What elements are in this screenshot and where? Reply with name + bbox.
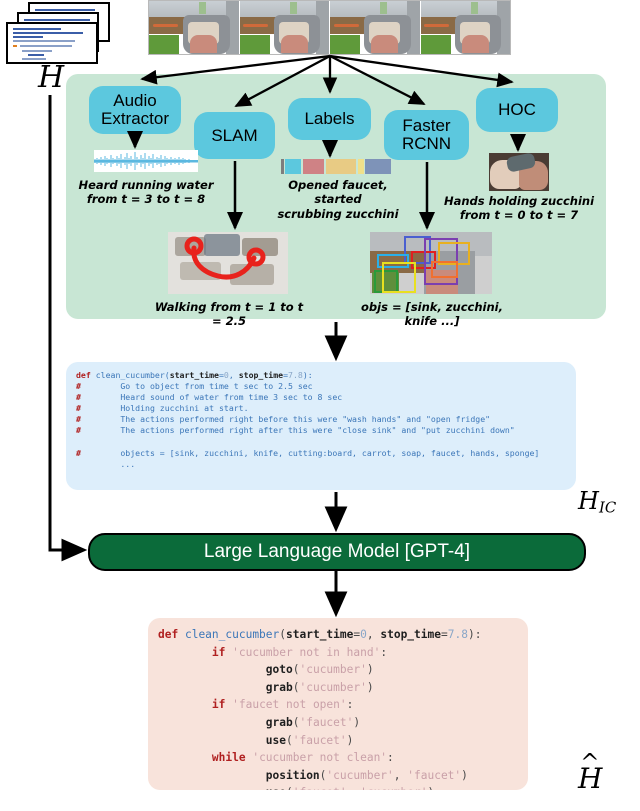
module-label-line1: Audio xyxy=(113,91,156,110)
slam-trajectory-map xyxy=(168,232,288,294)
module-label: HOC xyxy=(498,101,536,119)
detection-box xyxy=(382,262,416,293)
video-frame xyxy=(240,1,331,54)
in-context-prompt-code: def clean_cucumber(start_time=0, stop_ti… xyxy=(66,362,576,490)
module-label-line2: RCNN xyxy=(402,134,451,153)
history-label-H: H xyxy=(38,60,64,95)
label-bar-segment xyxy=(326,159,357,174)
video-frame xyxy=(330,1,421,54)
caption-hoc: Hands holding zucchini from t = 0 to t =… xyxy=(443,194,595,223)
llm-label: Large Language Model [GPT-4] xyxy=(204,541,470,563)
slam-path-overlay xyxy=(168,232,288,294)
module-labels[interactable]: Labels xyxy=(288,98,371,140)
document-sheet-front xyxy=(6,22,98,64)
video-frame xyxy=(421,1,511,54)
module-slam[interactable]: SLAM xyxy=(194,112,275,159)
module-label-line2: Extractor xyxy=(101,109,169,128)
generated-program-code: def clean_cucumber(start_time=0, stop_ti… xyxy=(148,618,528,790)
h-hat-label: ^ H xyxy=(578,762,602,795)
transcript-document-stack xyxy=(6,2,111,64)
caption-slam: Walking from t = 1 to t = 2.5 xyxy=(150,300,308,329)
audio-waveform xyxy=(94,150,198,172)
input-video-frames xyxy=(148,0,511,55)
label-bar-segment xyxy=(285,159,301,174)
label-bar-segment xyxy=(358,159,364,174)
h-ic-label: HIC xyxy=(578,487,616,517)
video-frame xyxy=(149,1,240,54)
object-detection-image xyxy=(370,232,492,294)
module-label: Labels xyxy=(304,110,354,128)
hand-object-contact-image xyxy=(489,153,549,191)
module-audio-extractor[interactable]: Audio Extractor xyxy=(89,86,181,134)
llm-block[interactable]: Large Language Model [GPT-4] xyxy=(88,533,586,571)
label-bar-segment xyxy=(365,159,391,174)
label-bar-segment xyxy=(281,159,284,174)
module-label-line1: Faster xyxy=(402,116,450,135)
module-faster-rcnn[interactable]: Faster RCNN xyxy=(384,110,469,160)
caption-labels: Opened faucet, started scrubbing zucchin… xyxy=(268,178,408,221)
label-color-bars xyxy=(281,159,391,174)
caption-rcnn: objs = [sink, zucchini, knife ...] xyxy=(352,300,512,329)
caption-audio: Heard running water from t = 3 to t = 8 xyxy=(78,178,214,207)
waveform-svg xyxy=(94,150,198,172)
detection-box xyxy=(431,261,458,278)
label-bar-segment xyxy=(303,159,325,174)
module-hoc[interactable]: HOC xyxy=(476,88,558,132)
module-label: SLAM xyxy=(211,127,257,145)
